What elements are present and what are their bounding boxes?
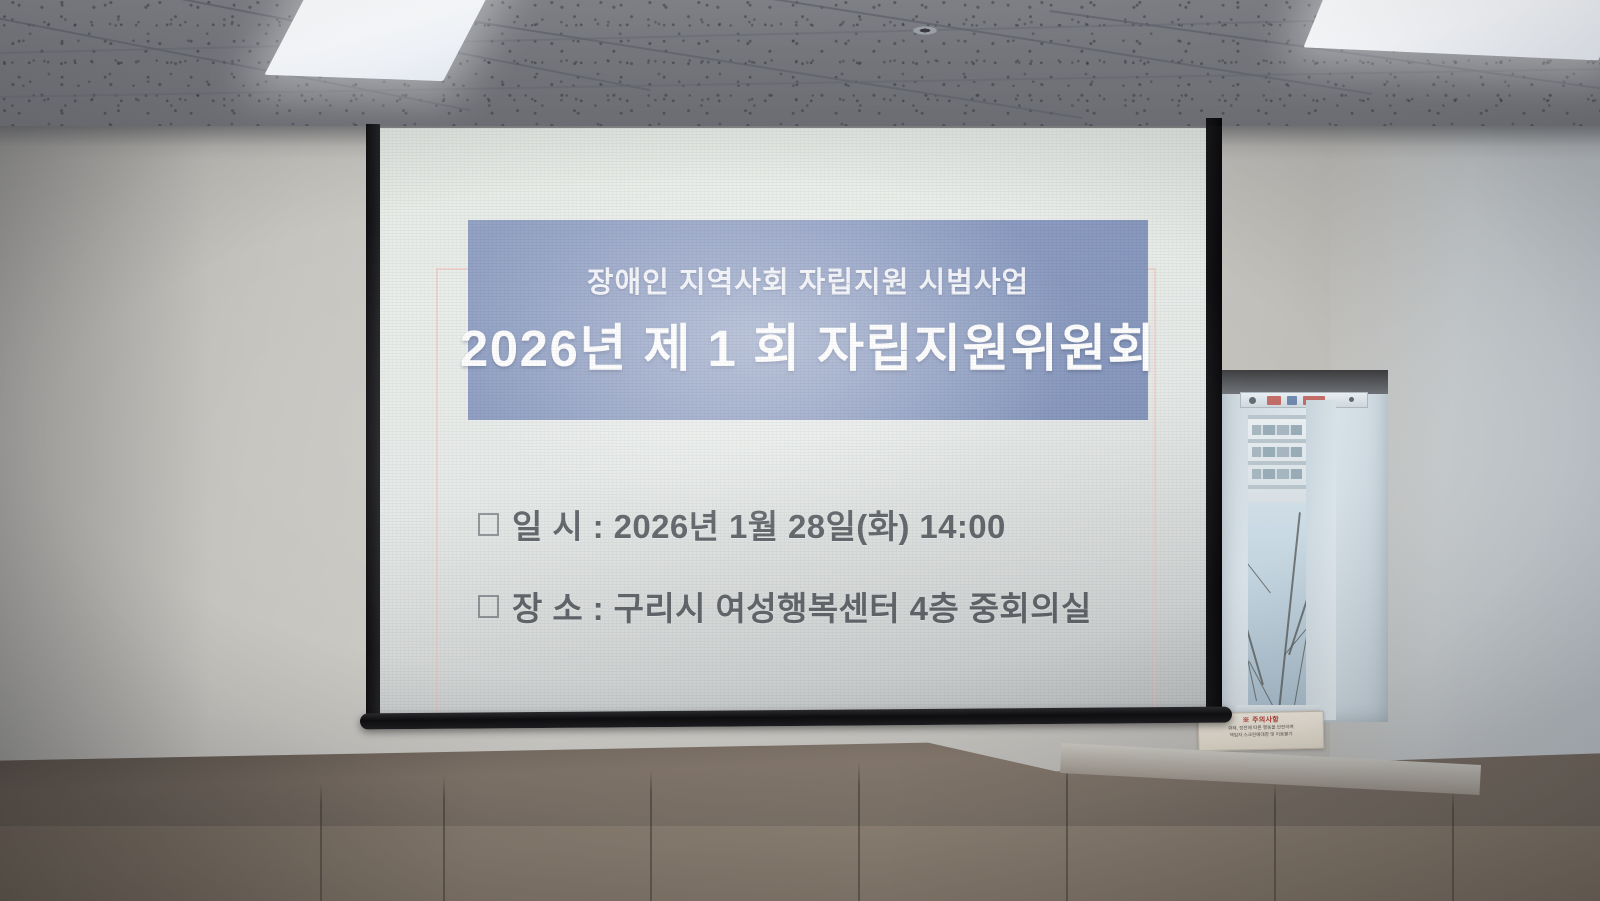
blind-label-sticker (1267, 396, 1281, 405)
slide-subtitle: 장애인 지역사회 자립지원 시범사업 (587, 259, 1029, 301)
window-header-bar (1222, 370, 1388, 394)
slide-info-row-datetime: 일 시 : 2026년 1월 28일(화) 14:00 (478, 500, 1138, 548)
panel-seam (1452, 789, 1454, 901)
screen-side-border-left (366, 124, 380, 718)
building-window-row (1252, 447, 1302, 457)
window-glass (1248, 415, 1306, 713)
checkbox-icon (478, 595, 499, 618)
roller-blind-headrail[interactable] (1240, 392, 1368, 408)
wall-shading-left (0, 126, 210, 826)
slide-info-text: 장 소 : 구리시 여성행복센터 4층 중회의실 (512, 582, 1092, 630)
sprinkler-icon (912, 26, 938, 35)
window-jamb (1306, 400, 1336, 720)
room-photo-scene: ※ 주의사항 화재, 정전에 따른 행동을 안전하며 책임자 스크린에대한 및 … (0, 0, 1600, 901)
panel-seam (443, 776, 445, 901)
slide-info-text: 일 시 : 2026년 1월 28일(화) 14:00 (512, 500, 1006, 548)
tree-branch (1248, 537, 1271, 593)
building-window-row (1252, 469, 1302, 479)
slide-title-banner: 장애인 지역사회 자립지원 시범사업 2026년 제 1 회 자립지원위원회 (468, 220, 1148, 420)
panel-seam (650, 769, 652, 901)
building-window-row (1252, 425, 1302, 435)
panel-seam (1066, 755, 1068, 901)
ceiling (0, 0, 1600, 132)
projected-slide: 장애인 지역사회 자립지원 시범사업 2026년 제 1 회 자립지원위원회 일… (380, 128, 1206, 714)
blind-label-sticker (1287, 396, 1297, 405)
checkbox-icon (478, 513, 499, 536)
projection-screen: 장애인 지역사회 자립지원 시범사업 2026년 제 1 회 자립지원위원회 일… (366, 118, 1222, 732)
slide-info-block: 일 시 : 2026년 1월 28일(화) 14:00 장 소 : 구리시 여성… (478, 500, 1138, 664)
outside-building (1248, 415, 1306, 503)
tree-branch (1248, 569, 1264, 685)
slide-heading: 2026년 제 1 회 자립지원위원회 (460, 307, 1156, 381)
panel-seam (1274, 781, 1276, 901)
screen-side-border-right (1206, 118, 1222, 718)
slide-info-row-location: 장 소 : 구리시 여성행복센터 4층 중회의실 (478, 582, 1138, 630)
blind-bracket-icon (1349, 397, 1354, 402)
panel-seam (858, 761, 860, 901)
panel-seam (320, 783, 322, 901)
blind-bracket-icon (1249, 397, 1256, 404)
